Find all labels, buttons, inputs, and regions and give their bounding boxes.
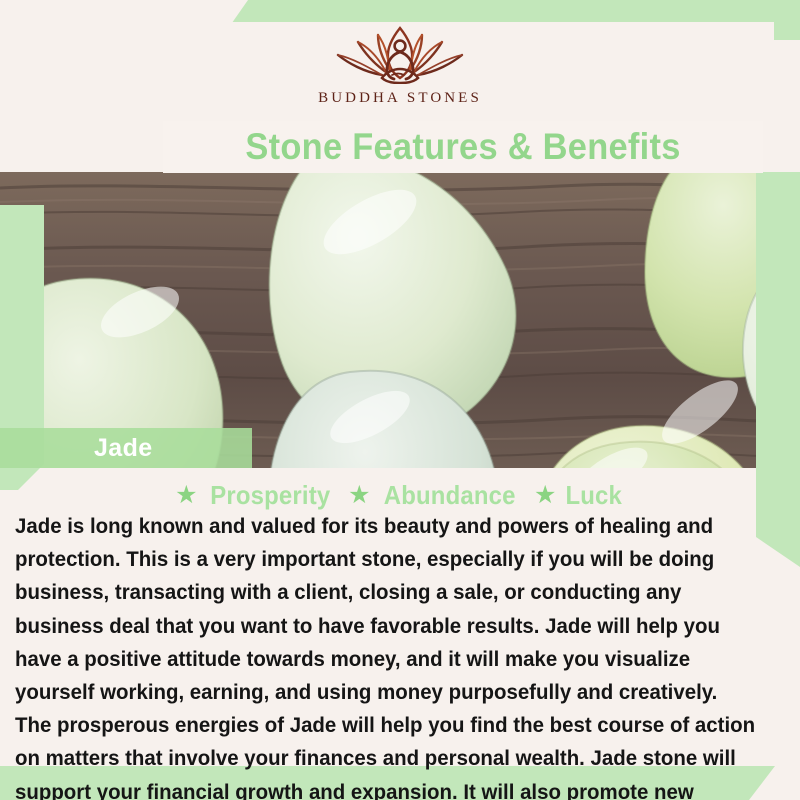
poster-root: BUDDHA STONES Stone Features & Benefits … [0, 0, 800, 800]
lotus-meditation-icon [332, 22, 468, 84]
stone-photo [0, 172, 800, 468]
keyword-item: ★ Luck [534, 480, 625, 511]
star-icon: ★ [534, 483, 556, 508]
keyword-label: Prosperity [210, 480, 330, 511]
brand-logo: BUDDHA STONES [318, 22, 482, 107]
page-title: Stone Features & Benefits [245, 126, 680, 168]
stone-name-label: Jade [94, 434, 153, 463]
keyword-item: ★ Abundance [348, 480, 521, 511]
description-text: Jade is long known and valued for its be… [15, 510, 755, 800]
star-icon: ★ [175, 483, 197, 508]
star-icon: ★ [348, 483, 370, 508]
keyword-row: ★ Prosperity ★ Abundance ★ Luck [0, 478, 800, 512]
keyword-label: Abundance [383, 480, 515, 511]
keyword-item: ★ Prosperity [175, 480, 335, 511]
title-band: Stone Features & Benefits [163, 121, 763, 173]
brand-name: BUDDHA STONES [318, 90, 482, 107]
stone-name-band: Jade [0, 428, 252, 468]
keyword-label: Luck [566, 480, 623, 511]
